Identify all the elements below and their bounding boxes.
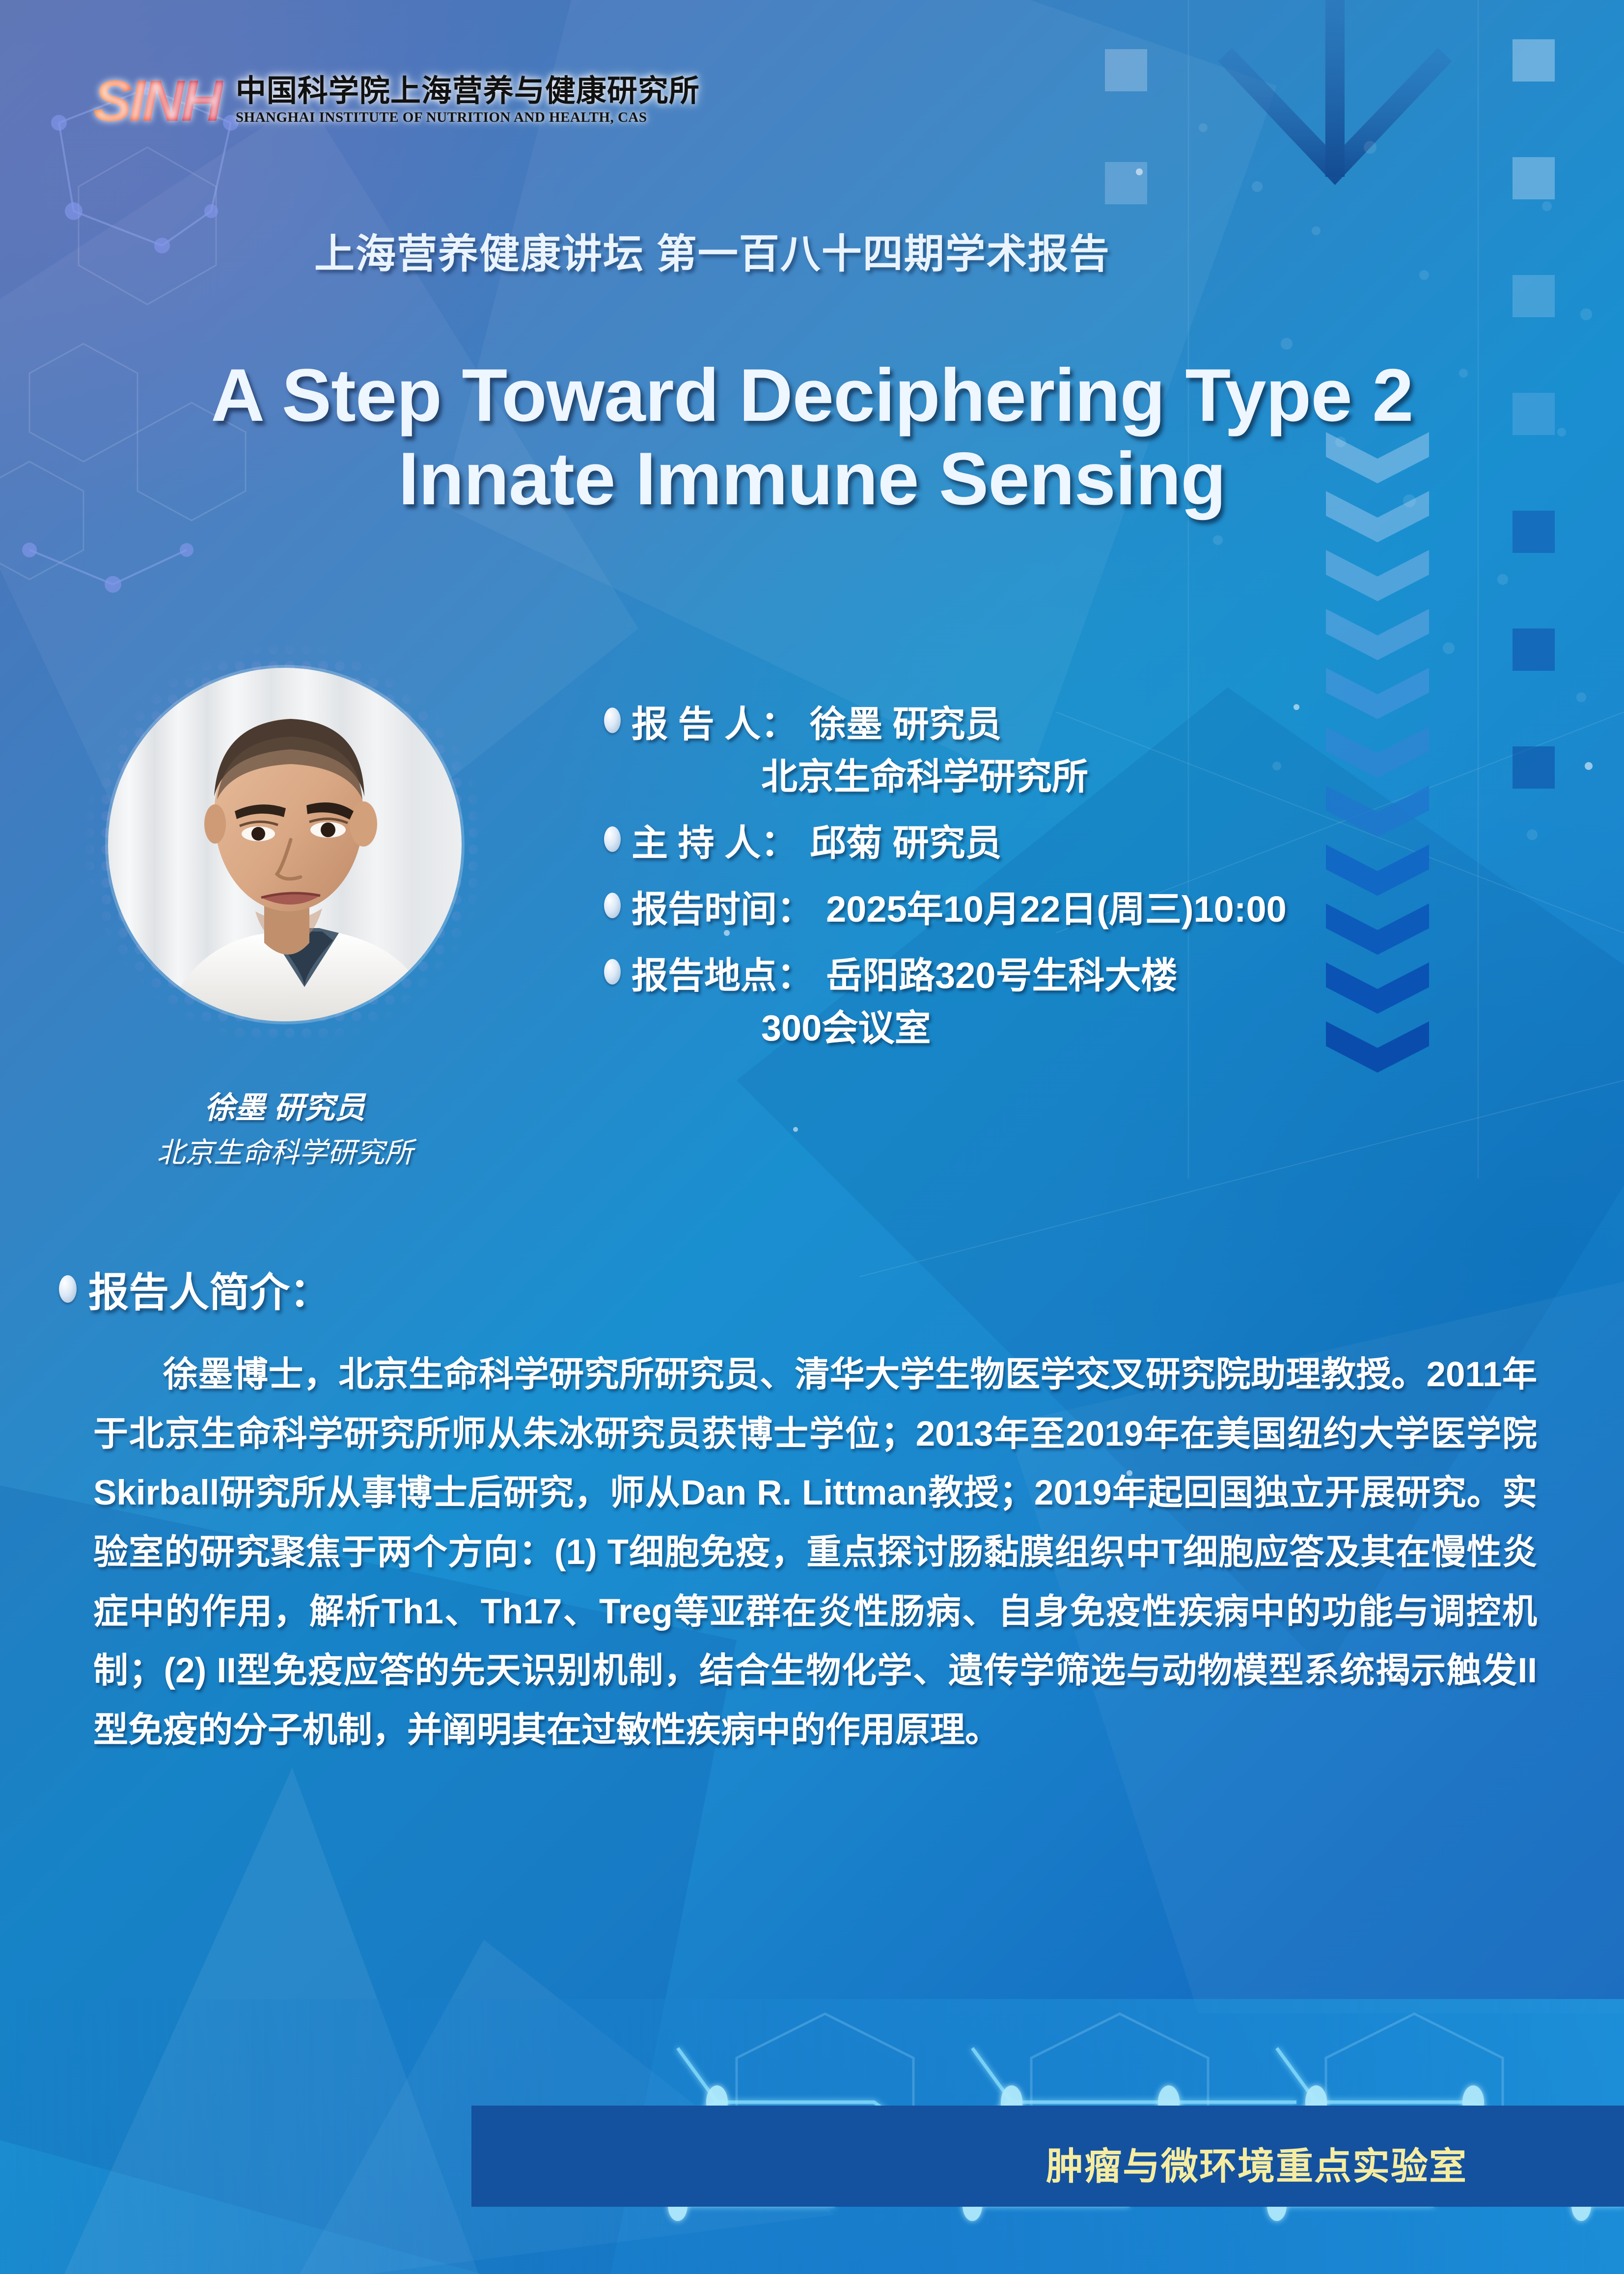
page-title: A Step Toward Deciphering Type 2 Innate … [0, 354, 1624, 521]
info-value-host: 邱菊 研究员 [810, 814, 1002, 866]
photo-caption-name: 徐墨 研究员 [81, 1083, 489, 1127]
footer-lab-name: 肿瘤与微环境重点实验室 [1046, 2136, 1467, 2190]
info-row-speaker: 报 告 人： 徐墨 研究员 北京生命科学研究所 [604, 695, 1576, 800]
info-value-venue: 岳阳路320号生科大楼 [826, 946, 1177, 999]
down-arrow-icon [1193, 0, 1468, 246]
event-info-list: 报 告 人： 徐墨 研究员 北京生命科学研究所 主 持 人： 邱菊 研究员 报告… [604, 695, 1576, 1065]
bullet-icon [604, 893, 621, 918]
info-row-venue: 报告地点： 岳阳路320号生科大楼 300会议室 [604, 946, 1576, 1051]
speaker-portrait [108, 668, 462, 1021]
info-row-time: 报告时间： 2025年10月22日(周三)10:00 [604, 880, 1576, 932]
institute-name-cn: 中国科学院上海营养与健康研究所 [236, 75, 700, 108]
bullet-icon [604, 826, 621, 852]
bio-heading-text: 报告人简介： [88, 1260, 330, 1318]
bio-body: 徐墨博士，北京生命科学研究所研究员、清华大学生物医学交叉研究院助理教授。2011… [93, 1345, 1537, 1760]
info-row-host: 主 持 人： 邱菊 研究员 [604, 814, 1576, 866]
institute-name-en: SHANGHAI INSTITUTE OF NUTRITION AND HEAL… [236, 110, 700, 126]
bio-heading: 报告人简介： [59, 1260, 330, 1318]
info-value-time: 2025年10月22日(周三)10:00 [826, 880, 1287, 932]
poster-root: SINH 中国科学院上海营养与健康研究所 SHANGHAI INSTITUTE … [0, 0, 1624, 2274]
title-line-1: A Step Toward Deciphering Type 2 [211, 354, 1413, 437]
institute-logo: SINH 中国科学院上海营养与健康研究所 SHANGHAI INSTITUTE … [93, 74, 700, 129]
series-subtitle: 上海营养健康讲坛 第一百八十四期学术报告 [314, 221, 1110, 279]
info-label-speaker: 报 告 人： [632, 695, 797, 747]
photo-caption-affiliation: 北京生命科学研究所 [81, 1129, 489, 1171]
info-sub-venue-room: 300会议室 [761, 999, 1576, 1051]
sinh-logo-mark: SINH [93, 74, 223, 129]
info-label-venue: 报告地点： [632, 946, 813, 999]
bullet-icon [59, 1275, 77, 1303]
bullet-icon [604, 708, 621, 733]
info-sub-speaker-affiliation: 北京生命科学研究所 [761, 747, 1576, 800]
bullet-icon [604, 959, 621, 985]
info-value-speaker: 徐墨 研究员 [810, 695, 1002, 747]
title-line-2: Innate Immune Sensing [0, 437, 1624, 521]
speaker-photo-frame [81, 641, 489, 1048]
info-label-time: 报告时间： [632, 880, 813, 932]
info-label-host: 主 持 人： [632, 814, 797, 866]
bio-paragraph: 徐墨博士，北京生命科学研究所研究员、清华大学生物医学交叉研究院助理教授。2011… [93, 1345, 1537, 1760]
